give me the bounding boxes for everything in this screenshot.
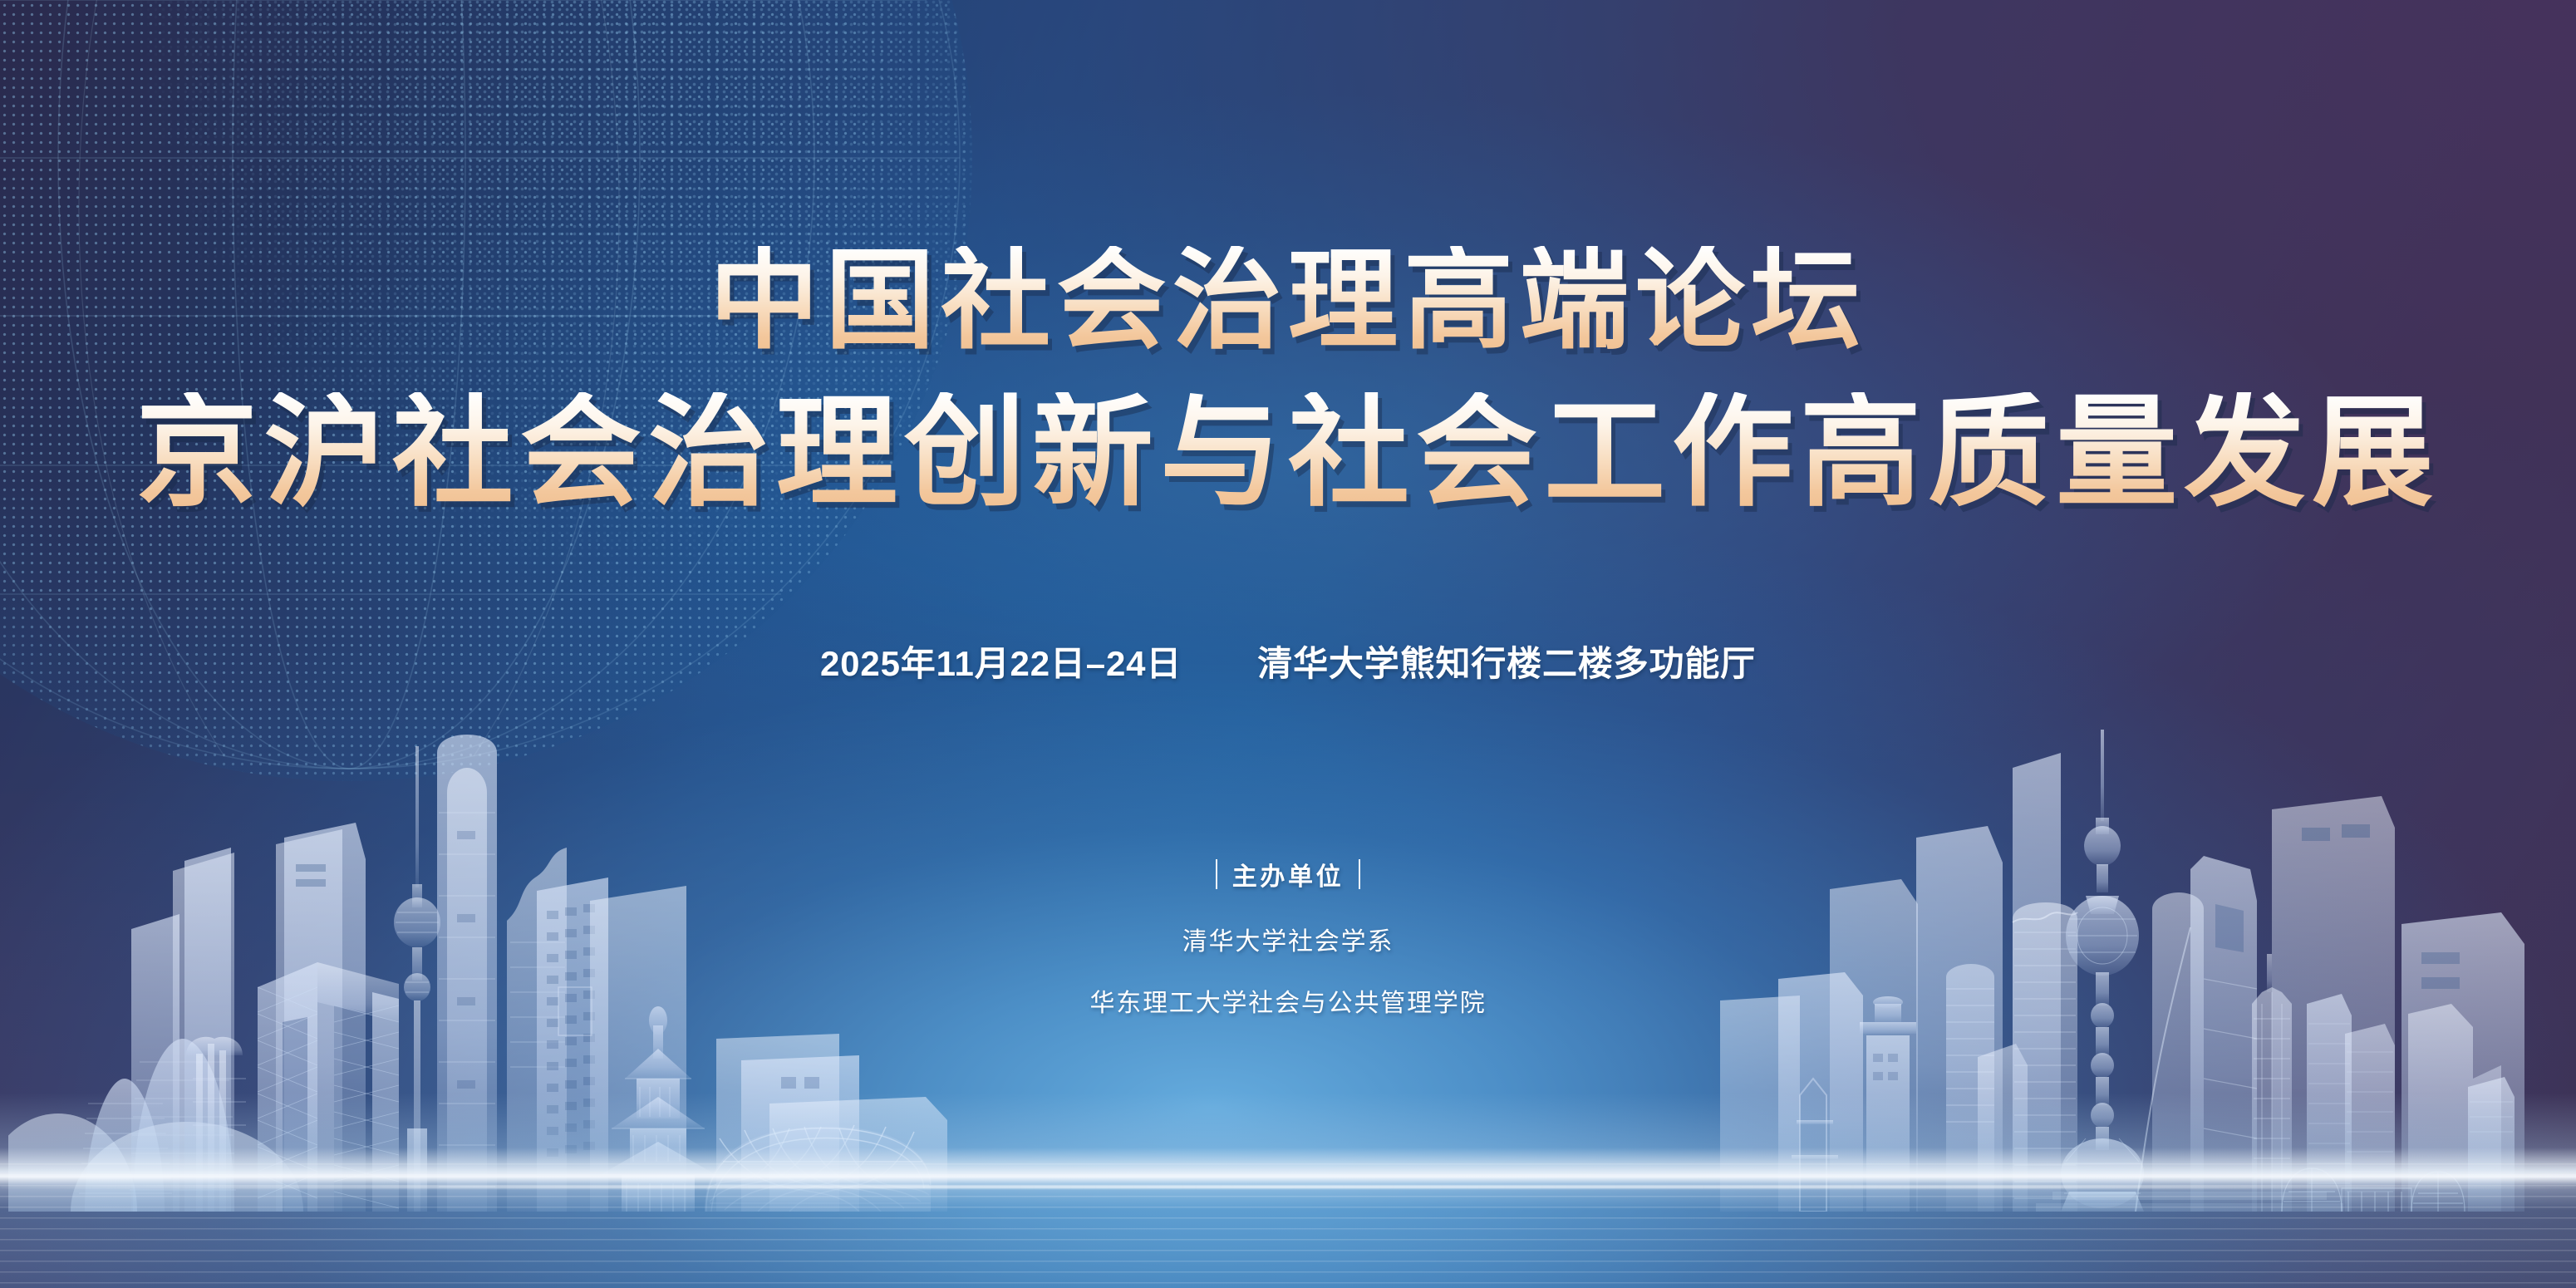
divider-bar-left <box>1216 859 1217 889</box>
divider-bar-right <box>1359 859 1360 889</box>
hosts-label-row: 主办单位 <box>0 856 2576 892</box>
hosts-label-text: 主办单位 <box>1232 856 1344 892</box>
host-organization-1: 清华大学社会学系 <box>0 921 2576 957</box>
conference-title-subtitle: 京沪社会治理创新与社会工作高质量发展 <box>0 392 2576 514</box>
conference-venue: 清华大学熊知行楼二楼多功能厅 <box>1257 644 1756 683</box>
banner-content: 中国社会治理高端论坛 京沪社会治理创新与社会工作高质量发展 2025年11月22… <box>0 0 2576 1288</box>
conference-banner: 中国社会治理高端论坛 京沪社会治理创新与社会工作高质量发展 2025年11月22… <box>0 0 2576 1288</box>
host-organization-2: 华东理工大学社会与公共管理学院 <box>0 982 2576 1019</box>
hosts-section: 主办单位 清华大学社会学系 华东理工大学社会与公共管理学院 <box>0 856 2576 1019</box>
conference-date: 2025年11月22日–24日 <box>820 644 1182 683</box>
date-venue-row: 2025年11月22日–24日 清华大学熊知行楼二楼多功能厅 <box>0 636 2576 686</box>
conference-title-main: 中国社会治理高端论坛 <box>0 246 2576 356</box>
